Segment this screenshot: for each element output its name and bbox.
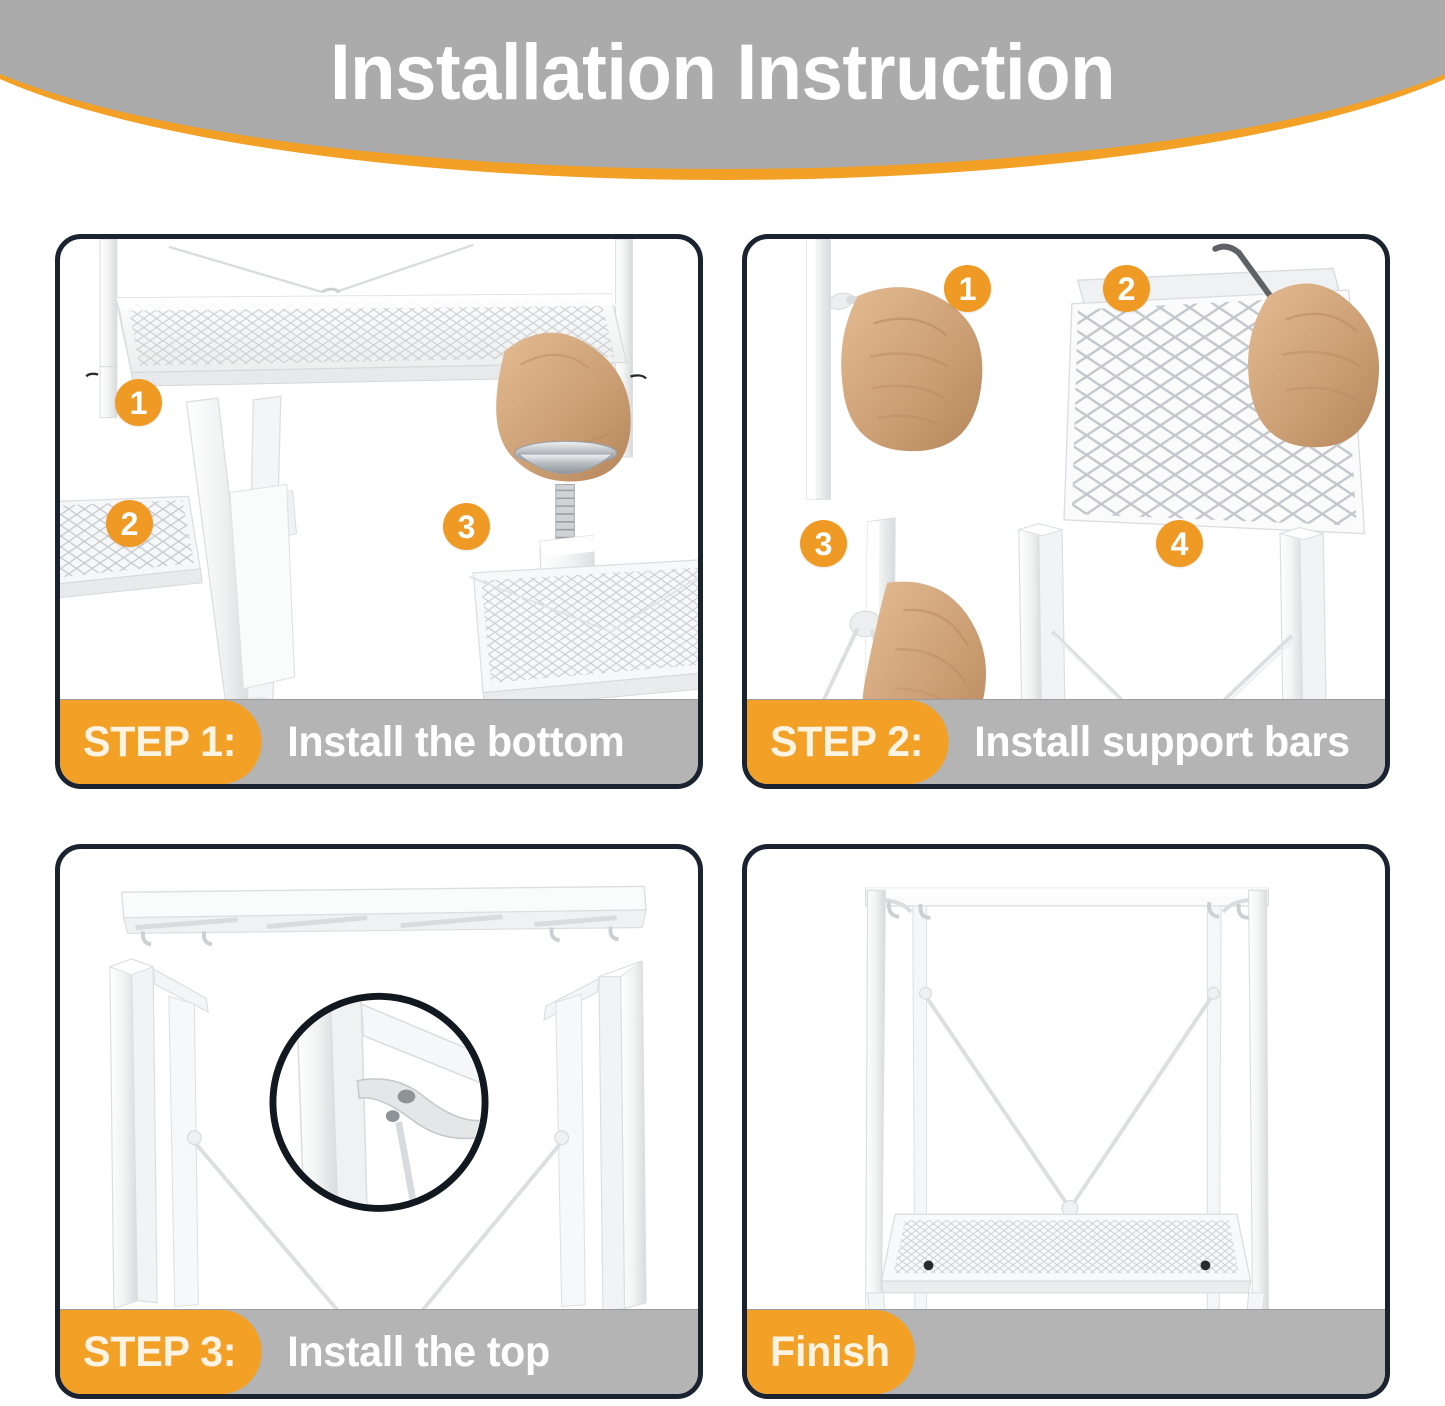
step-caption-2: Install support bars <box>957 700 1350 784</box>
page-title: Installation Instruction <box>43 26 1401 118</box>
step-pill-1: STEP 1: <box>60 700 261 784</box>
panel-step-1: 1 2 3 STEP 1: Install the bottom <box>55 234 703 789</box>
badge-step2-3: 3 <box>800 520 847 567</box>
steps-grid: 1 2 3 STEP 1: Install the bottom <box>55 234 1390 1399</box>
caption-finish: Finish <box>747 1309 1385 1394</box>
caption-step-2: STEP 2: Install support bars <box>747 699 1385 784</box>
badge-step1-3: 3 <box>443 503 490 550</box>
step-pill-2: STEP 2: <box>747 700 948 784</box>
panel-step-2: 1 2 3 4 STEP 2: Install support bars <box>742 234 1390 789</box>
badge-step2-1: 1 <box>944 265 991 312</box>
lower-right-mesh-shelf <box>469 559 698 708</box>
header-banner: Installation Instruction <box>0 0 1445 185</box>
step-pill-3: STEP 3: <box>60 1310 261 1394</box>
frame-legs <box>187 396 297 704</box>
caption-step-1: STEP 1: Install the bottom <box>60 699 698 784</box>
finish-pill: Finish <box>747 1310 915 1394</box>
panel-step-3: STEP 3: Install the top <box>55 844 703 1399</box>
badge-step2-4: 4 <box>1156 520 1203 567</box>
top-shelf-edge-view <box>122 886 646 944</box>
step-caption-1: Install the bottom <box>270 700 624 784</box>
panel-finish: Finish <box>742 844 1390 1399</box>
finish-caption <box>922 1310 939 1394</box>
step-caption-3: Install the top <box>270 1310 550 1394</box>
badge-step2-2: 2 <box>1103 265 1150 312</box>
caption-step-3: STEP 3: Install the top <box>60 1309 698 1394</box>
finished-support-bars <box>920 987 1220 1216</box>
finished-bottom-shelf <box>881 1214 1250 1293</box>
badge-step1-1: 1 <box>115 379 162 426</box>
badge-step1-2: 2 <box>106 500 153 547</box>
